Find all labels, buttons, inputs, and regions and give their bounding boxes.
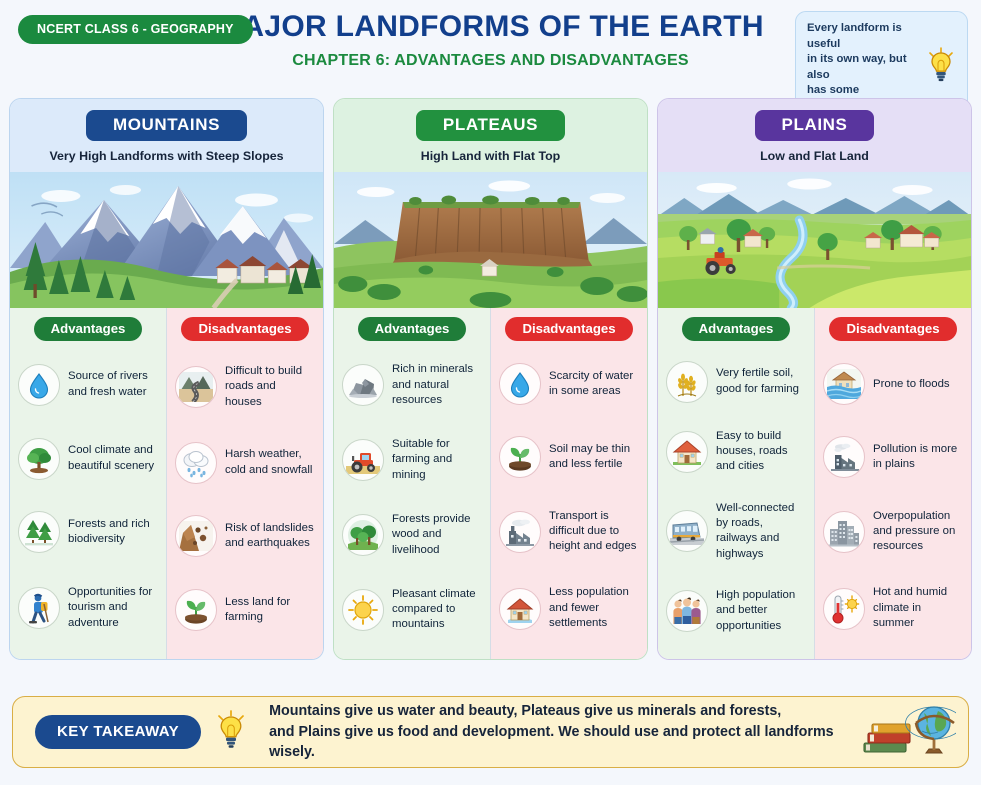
- list-item-label: Pleasant climate compared to mountains: [392, 587, 482, 633]
- list-item[interactable]: High population and better opportunities: [666, 587, 806, 635]
- list-item-label: Well-connected by roads, railways and hi…: [716, 501, 806, 563]
- list-item[interactable]: Suitable for farming and mining: [342, 436, 482, 484]
- list-item-label: Less population and fewer settlements: [549, 585, 639, 631]
- list-item-label: Forests and rich biodiversity: [68, 517, 158, 548]
- card-mountains-title: MOUNTAINS: [86, 110, 247, 141]
- list-item-label: Opportunities for tourism and adventure: [68, 585, 158, 631]
- list-item[interactable]: Less population and fewer settlements: [499, 584, 639, 632]
- info-callout-line-1: Every landform is useful: [807, 21, 921, 52]
- rocks-minerals-icon: [342, 364, 384, 406]
- tree-icon: [18, 438, 60, 480]
- advantages-label: Advantages: [358, 317, 467, 341]
- winding-mountain-road-icon: [175, 366, 217, 408]
- card-plateaus[interactable]: PLATEAUS High Land with Flat Top: [333, 98, 648, 660]
- list-item-label: Scarcity of water in some areas: [549, 369, 639, 400]
- list-item-label: Hot and humid climate in summer: [873, 585, 963, 631]
- list-item[interactable]: Risk of landslides and earthquakes: [175, 514, 315, 558]
- flooded-house-icon: [823, 363, 865, 405]
- list-item[interactable]: Transport is difficult due to height and…: [499, 508, 639, 556]
- card-mountains-header: MOUNTAINS Very High Landforms with Steep…: [10, 99, 323, 172]
- disadvantages-label: Disadvantages: [505, 317, 632, 341]
- list-item[interactable]: Harsh weather, cold and snowfall: [175, 441, 315, 485]
- card-plateaus-subtitle: High Land with Flat Top: [340, 149, 641, 163]
- list-item[interactable]: Forests provide wood and livelihood: [342, 511, 482, 559]
- list-item-label: Prone to floods: [873, 377, 950, 392]
- forest-icon: [342, 514, 384, 556]
- list-item[interactable]: Prone to floods: [823, 362, 963, 406]
- factory-icon: [499, 511, 541, 553]
- list-item-label: Forests provide wood and livelihood: [392, 512, 482, 558]
- list-item[interactable]: Difficult to build roads and houses: [175, 363, 315, 411]
- list-item[interactable]: Overpopulation and pressure on resources: [823, 508, 963, 556]
- key-takeaway-line-2: and Plains give us food and development.…: [269, 722, 847, 763]
- list-item-label: Very fertile soil, good for farming: [716, 366, 806, 397]
- mountains-advantages-list: Source of rivers and fresh water: [17, 346, 159, 651]
- advantages-label: Advantages: [682, 317, 791, 341]
- sun-icon: [342, 589, 384, 631]
- plateaus-advantages-list: Rich in minerals and natural resources: [341, 346, 483, 651]
- list-item-label: Rich in minerals and natural resources: [392, 362, 482, 408]
- lightbulb-icon: [925, 46, 957, 89]
- globe-and-books-icon: [860, 699, 956, 766]
- mountains-disadvantages-panel: Disadvantages: [166, 308, 323, 659]
- mountains-disadvantages-list: Difficult to build roads and houses: [174, 346, 316, 651]
- tractor-icon: [342, 439, 384, 481]
- list-item[interactable]: Less land for farming: [175, 588, 315, 632]
- card-mountains[interactable]: MOUNTAINS Very High Landforms with Steep…: [9, 98, 324, 660]
- city-buildings-icon: [823, 511, 865, 553]
- card-plains-title: PLAINS: [755, 110, 875, 141]
- list-item[interactable]: Scarcity of water in some areas: [499, 362, 639, 406]
- list-item-label: Easy to build houses, roads and cities: [716, 429, 806, 475]
- plains-illustration: [658, 172, 971, 308]
- sprout-soil-icon: [499, 436, 541, 478]
- people-group-icon: [666, 590, 708, 632]
- list-item[interactable]: Cool climate and beautiful scenery: [18, 437, 158, 481]
- disadvantages-label: Disadvantages: [829, 317, 956, 341]
- hiker-icon: [18, 587, 60, 629]
- list-item[interactable]: Very fertile soil, good for farming: [666, 360, 806, 404]
- list-item-label: Difficult to build roads and houses: [225, 364, 315, 410]
- card-plains[interactable]: PLAINS Low and Flat Land: [657, 98, 972, 660]
- plateaus-disadvantages-panel: Disadvantages Scarcity of water in some …: [490, 308, 647, 659]
- list-item-label: Suitable for farming and mining: [392, 437, 482, 483]
- factory-smoke-icon: [823, 436, 865, 478]
- list-item[interactable]: Forests and rich biodiversity: [18, 510, 158, 554]
- plains-advantages-panel: Advantages: [658, 308, 814, 659]
- list-item-label: Risk of landslides and earthquakes: [225, 521, 315, 552]
- list-item[interactable]: Opportunities for tourism and adventure: [18, 584, 158, 632]
- key-takeaway-chip: KEY TAKEAWAY: [35, 715, 201, 749]
- list-item[interactable]: Pleasant climate compared to mountains: [342, 586, 482, 634]
- advantages-label: Advantages: [34, 317, 143, 341]
- sprout-icon: [175, 589, 217, 631]
- list-item-label: Cool climate and beautiful scenery: [68, 443, 158, 474]
- house-icon: [666, 431, 708, 473]
- list-item-label: Transport is difficult due to height and…: [549, 509, 639, 555]
- landslide-icon: [175, 515, 217, 557]
- list-item[interactable]: Well-connected by roads, railways and hi…: [666, 500, 806, 564]
- key-takeaway-bar: KEY TAKEAWAY Mountains give us water and…: [12, 696, 969, 768]
- page-header: NCERT CLASS 6 - GEOGRAPHY MAJOR LANDFORM…: [0, 0, 981, 92]
- list-item-label: Harsh weather, cold and snowfall: [225, 447, 315, 478]
- mountains-advantages-panel: Advantages Source of rivers and fresh wa…: [10, 308, 166, 659]
- list-item[interactable]: Pollution is more in plains: [823, 435, 963, 479]
- card-plains-header: PLAINS Low and Flat Land: [658, 99, 971, 172]
- list-item-label: Source of rivers and fresh water: [68, 369, 158, 400]
- landform-cards: MOUNTAINS Very High Landforms with Steep…: [9, 98, 972, 660]
- list-item-label: Less land for farming: [225, 595, 315, 626]
- water-drop-icon: [499, 363, 541, 405]
- info-callout-line-2: in its own way, but also: [807, 52, 921, 83]
- thermometer-sun-icon: [823, 588, 865, 630]
- plateaus-illustration: [334, 172, 647, 308]
- plateaus-disadvantages-list: Scarcity of water in some areas: [498, 346, 640, 651]
- wheat-icon: [666, 361, 708, 403]
- plains-disadvantages-panel: Disadvantages: [814, 308, 971, 659]
- card-plateaus-title: PLATEAUS: [416, 110, 565, 141]
- list-item[interactable]: Hot and humid climate in summer: [823, 584, 963, 632]
- plateaus-panels: Advantages: [334, 308, 647, 659]
- pine-forest-icon: [18, 511, 60, 553]
- plains-panels: Advantages: [658, 308, 971, 659]
- rain-cloud-icon: [175, 442, 217, 484]
- card-plateaus-header: PLATEAUS High Land with Flat Top: [334, 99, 647, 172]
- list-item[interactable]: Source of rivers and fresh water: [18, 363, 158, 407]
- list-item-label: Pollution is more in plains: [873, 442, 963, 473]
- train-icon: [666, 510, 708, 552]
- list-item-label: High population and better opportunities: [716, 588, 806, 634]
- disadvantages-label: Disadvantages: [181, 317, 308, 341]
- list-item-label: Overpopulation and pressure on resources: [873, 509, 963, 555]
- card-mountains-subtitle: Very High Landforms with Steep Slopes: [16, 149, 317, 163]
- card-plains-subtitle: Low and Flat Land: [664, 149, 965, 163]
- plains-disadvantages-list: Prone to floods: [822, 346, 964, 651]
- list-item-label: Soil may be thin and less fertile: [549, 442, 639, 473]
- mountains-illustration: [10, 172, 323, 308]
- list-item[interactable]: Easy to build houses, roads and cities: [666, 428, 806, 476]
- plateaus-advantages-panel: Advantages: [334, 308, 490, 659]
- water-drop-icon: [18, 364, 60, 406]
- key-takeaway-line-1: Mountains give us water and beauty, Plat…: [269, 701, 847, 722]
- ncert-class-badge: NCERT CLASS 6 - GEOGRAPHY: [18, 15, 253, 44]
- plains-advantages-list: Very fertile soil, good for farming: [665, 346, 807, 651]
- list-item[interactable]: Soil may be thin and less fertile: [499, 435, 639, 479]
- key-takeaway-text: Mountains give us water and beauty, Plat…: [261, 701, 847, 763]
- mountains-panels: Advantages Source of rivers and fresh wa…: [10, 308, 323, 659]
- list-item[interactable]: Rich in minerals and natural resources: [342, 361, 482, 409]
- house-icon: [499, 588, 541, 630]
- lightbulb-icon: [214, 709, 248, 756]
